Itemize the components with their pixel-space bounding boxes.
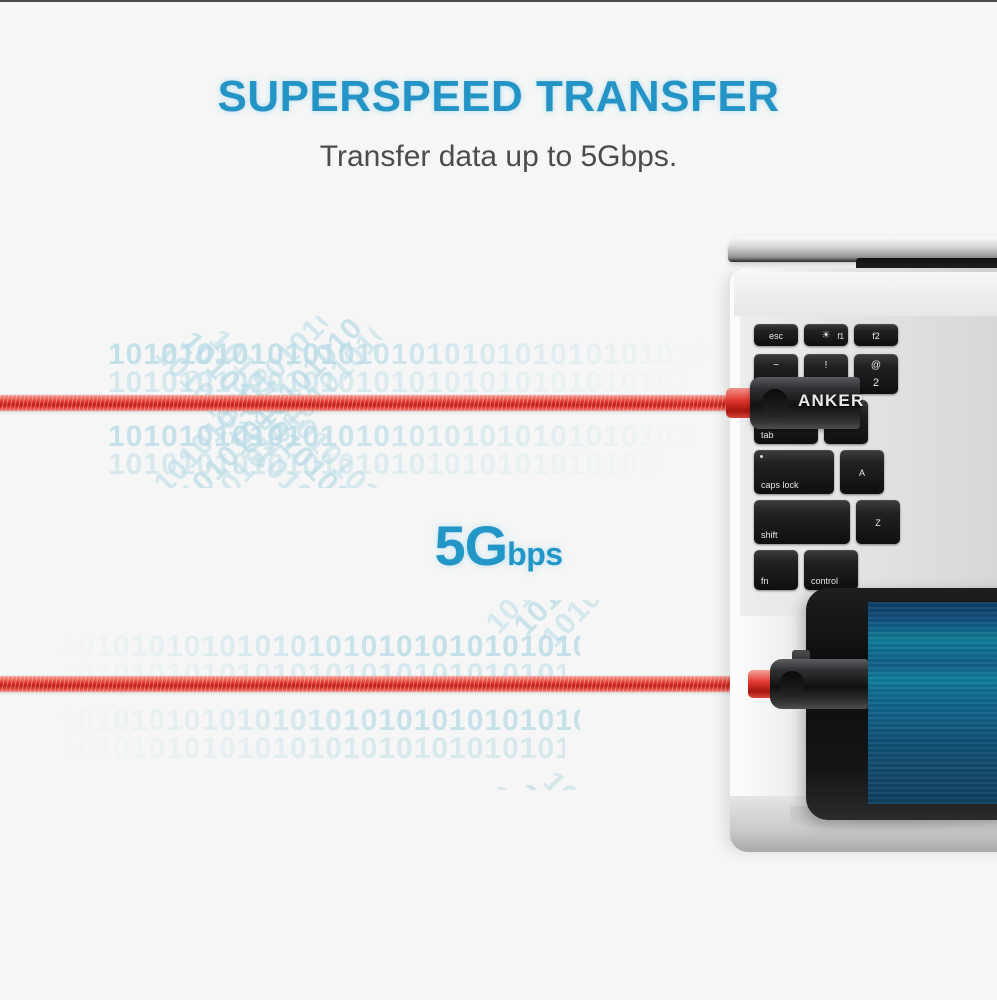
key-legend: f2 bbox=[872, 331, 880, 341]
key-legend: esc bbox=[769, 331, 783, 341]
key-f1[interactable]: ☀f1 bbox=[804, 324, 848, 346]
key-fn[interactable]: fn bbox=[754, 550, 798, 590]
connector-notch bbox=[762, 389, 788, 417]
binary-row-diagonal: 1010101010101010101010101010101010101010… bbox=[536, 765, 710, 790]
key-esc[interactable]: esc bbox=[754, 324, 798, 346]
key-two[interactable]: @2 bbox=[854, 354, 898, 394]
laptop-keyboard: esc☀f1f2~`!1@2tabQcaps lockAshiftZfncont… bbox=[740, 316, 997, 616]
key-legend-lower: f1 bbox=[837, 332, 844, 341]
key-z[interactable]: Z bbox=[856, 500, 900, 544]
laptop-palmrest bbox=[734, 272, 997, 316]
usb-a-connector: ANKER bbox=[726, 375, 856, 431]
page-title: SUPERSPEED TRANSFER bbox=[0, 72, 997, 122]
key-a[interactable]: A bbox=[840, 450, 884, 494]
cable-lower bbox=[0, 676, 766, 692]
usb-c-connector bbox=[748, 658, 868, 710]
key-legend: A bbox=[859, 468, 865, 478]
product-marketing-image: SUPERSPEED TRANSFER Transfer data up to … bbox=[0, 0, 997, 1000]
key-control[interactable]: control bbox=[804, 550, 858, 590]
key-legend: control bbox=[811, 576, 838, 586]
page-subtitle: Transfer data up to 5Gbps. bbox=[0, 140, 997, 174]
key-legend: Z bbox=[875, 518, 881, 528]
top-border-line bbox=[0, 0, 997, 2]
speed-unit: bps bbox=[507, 536, 562, 572]
binary-row: 1010101010101010101010101010101010101010… bbox=[60, 732, 565, 766]
caps-lock-indicator bbox=[760, 455, 763, 458]
data-flow-arrow-downstream: 1010101010101010101010101010101010101010… bbox=[0, 600, 790, 790]
key-legend: shift bbox=[761, 530, 778, 540]
key-caps-lock[interactable]: caps lock bbox=[754, 450, 834, 494]
anker-brand-label: ANKER bbox=[798, 391, 864, 411]
binary-row-diagonal: 1010101010101010101010101010101010101010… bbox=[536, 600, 710, 655]
key-f2[interactable]: f2 bbox=[854, 324, 898, 346]
key-legend: tab bbox=[761, 430, 774, 440]
speed-value: 5G bbox=[434, 514, 507, 577]
key-shift[interactable]: shift bbox=[754, 500, 850, 544]
cable-upper bbox=[0, 395, 736, 411]
key-legend: fn bbox=[761, 576, 769, 586]
key-legend: caps lock bbox=[761, 480, 799, 490]
phone-screen bbox=[868, 602, 997, 804]
brightness-icon: ☀ bbox=[822, 330, 831, 342]
key-legend-lower: 2 bbox=[873, 377, 879, 389]
connector-notch bbox=[780, 671, 804, 697]
